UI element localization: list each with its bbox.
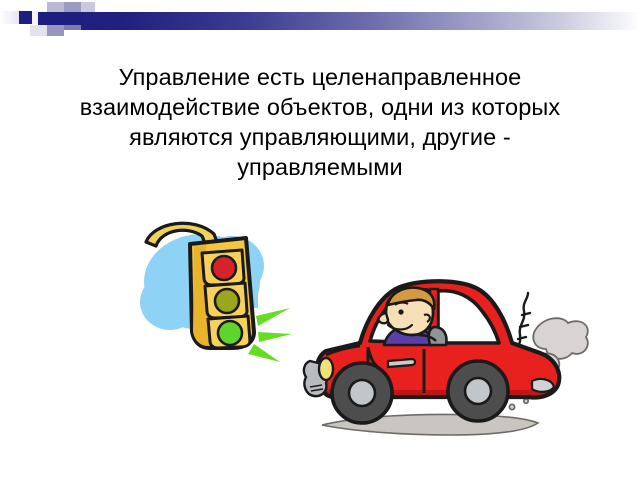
traffic-light-red-lamp: [212, 256, 236, 280]
traffic-light-yellow-lamp: [215, 289, 239, 313]
presentation-slide: Управление есть целенаправленное взаимод…: [0, 0, 640, 480]
decorative-header-bar: [0, 0, 640, 48]
banner-square-light-2: [81, 2, 95, 12]
banner-gradient-bar: [38, 12, 640, 30]
driver-eye: [398, 309, 403, 314]
traffic-light-lamps: [202, 250, 250, 348]
illustration-area: [0, 205, 640, 480]
banner-square-light-1: [0, 11, 19, 24]
door-handle: [388, 359, 415, 367]
steering-wheel: [429, 327, 447, 345]
car-rear-detail: [532, 379, 554, 392]
rear-wheel: [448, 361, 508, 421]
slide-title: Управление есть целенаправленное взаимод…: [56, 62, 584, 182]
banner-square-mid-5: [30, 25, 47, 36]
banner-square-dark: [19, 11, 32, 24]
banner-square-mid-6: [47, 25, 64, 36]
front-wheel: [332, 363, 392, 423]
traffic-light-icon: [128, 220, 293, 375]
traffic-light-green-lamp: [218, 321, 242, 345]
headlight: [319, 358, 333, 380]
banner-square-mid-7: [64, 25, 81, 30]
car-icon: [300, 265, 600, 450]
